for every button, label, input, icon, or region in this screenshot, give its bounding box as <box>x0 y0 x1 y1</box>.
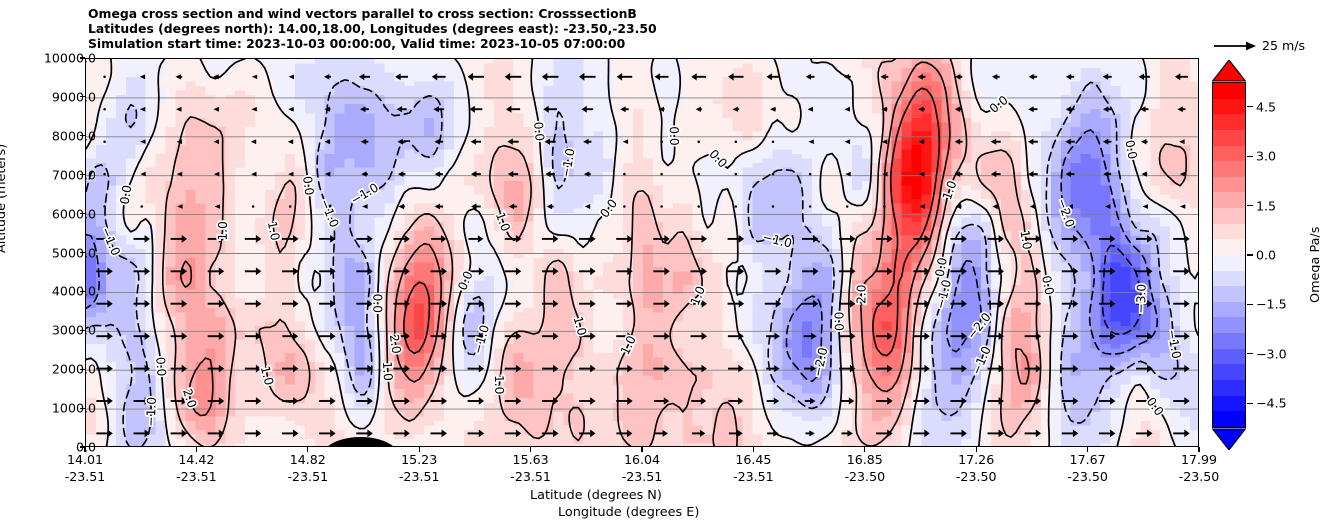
colorbar-band <box>1213 177 1245 193</box>
x-axis-label-longitude: Longitude (degrees E) <box>530 504 699 521</box>
x-tick-mark <box>530 447 531 452</box>
x-tick-label: 15.63-23.51 <box>510 452 551 485</box>
y-tick-mark <box>80 252 85 253</box>
colorbar-band <box>1213 146 1245 162</box>
x-tick-mark <box>1087 447 1088 452</box>
x-tick-longitude: -23.51 <box>622 469 663 486</box>
x-axis-label: Latitude (degrees N) Longitude (degrees … <box>530 487 699 521</box>
colorbar-band <box>1213 349 1245 365</box>
x-tick-label: 14.01-23.51 <box>65 452 106 485</box>
x-tick-label: 16.45-23.51 <box>733 452 774 485</box>
x-axis-label-latitude: Latitude (degrees N) <box>530 487 699 504</box>
colorbar: 4.53.01.50.0−1.5−3.0−4.5 Omega Pa/s <box>1212 60 1246 450</box>
x-tick-mark <box>641 447 642 452</box>
y-tick-mark <box>80 369 85 370</box>
x-tick-mark <box>84 447 85 452</box>
x-tick-latitude: 15.63 <box>510 452 551 469</box>
x-tick-label: 14.42-23.51 <box>176 452 217 485</box>
x-tick-latitude: 16.45 <box>733 452 774 469</box>
x-tick-longitude: -23.50 <box>1067 469 1108 486</box>
colorbar-tick-mark <box>1247 205 1253 206</box>
colorbar-band <box>1213 161 1245 177</box>
colorbar-tick-mark <box>1247 403 1253 404</box>
colorbar-tick-mark <box>1247 304 1253 305</box>
colorbar-band <box>1213 411 1245 427</box>
colorbar-title: Omega Pa/s <box>1308 227 1320 303</box>
colorbar-band <box>1213 364 1245 380</box>
colorbar-min-arrow <box>1212 428 1246 450</box>
x-tick-longitude: -23.51 <box>287 469 328 486</box>
omega-cross-section-plot: −3.0−2.0−2.0−2.0−1.0−1.0−1.0−1.0−1.0−1.0… <box>85 58 1199 447</box>
x-tick-mark <box>753 447 754 452</box>
wind-vector-key: 25 m/s <box>1212 36 1320 58</box>
colorbar-band <box>1213 255 1245 271</box>
colorbar-tick-label: −3.0 <box>1256 346 1287 361</box>
x-tick-mark <box>1198 447 1199 452</box>
colorbar-band <box>1213 130 1245 146</box>
x-tick-longitude: -23.50 <box>1179 469 1220 486</box>
y-tick-label: 3000.0 <box>52 323 96 338</box>
x-tick-longitude: -23.51 <box>510 469 551 486</box>
colorbar-band <box>1213 317 1245 333</box>
x-tick-mark <box>864 447 865 452</box>
y-tick-label: 1000.0 <box>52 401 96 416</box>
chart-title-block: Omega cross section and wind vectors par… <box>88 6 1088 52</box>
y-tick-label: 10000.0 <box>44 51 96 66</box>
x-tick-longitude: -23.51 <box>399 469 440 486</box>
y-tick-mark <box>80 96 85 97</box>
x-tick-longitude: -23.50 <box>956 469 997 486</box>
colorbar-band <box>1213 99 1245 115</box>
x-tick-label: 14.82-23.51 <box>287 452 328 485</box>
x-tick-longitude: -23.51 <box>176 469 217 486</box>
y-tick-label: 2000.0 <box>52 362 96 377</box>
y-tick-mark <box>80 291 85 292</box>
x-tick-label: 15.23-23.51 <box>399 452 440 485</box>
x-tick-latitude: 16.04 <box>622 452 663 469</box>
y-tick-mark <box>80 213 85 214</box>
colorbar-tick-mark <box>1247 254 1253 255</box>
colorbar-tick-label: −1.5 <box>1256 297 1287 312</box>
x-tick-latitude: 15.23 <box>399 452 440 469</box>
y-tick-label: 7000.0 <box>52 167 96 182</box>
colorbar-max-arrow <box>1212 60 1246 82</box>
arrow-right-icon <box>1212 36 1258 56</box>
y-tick-label: 5000.0 <box>52 245 96 260</box>
colorbar-tick-mark <box>1247 156 1253 157</box>
colorbar-band <box>1213 396 1245 412</box>
colorbar-tick-label: 4.5 <box>1256 99 1276 114</box>
x-tick-latitude: 17.26 <box>956 452 997 469</box>
colorbar-tick-label: 0.0 <box>1256 248 1276 263</box>
y-tick-label: 8000.0 <box>52 128 96 143</box>
x-tick-longitude: -23.51 <box>733 469 774 486</box>
x-tick-latitude: 14.01 <box>65 452 106 469</box>
colorbar-tick-label: 3.0 <box>1256 149 1276 164</box>
colorbar-band <box>1213 271 1245 287</box>
colorbar-tick-mark <box>1247 353 1253 354</box>
colorbar-band <box>1213 302 1245 318</box>
colorbar-band <box>1213 380 1245 396</box>
x-tick-label: 17.67-23.50 <box>1067 452 1108 485</box>
x-tick-label: 16.04-23.51 <box>622 452 663 485</box>
colorbar-band <box>1213 83 1245 99</box>
title-line-2: Latitudes (degrees north): 14.00,18.00, … <box>88 21 1088 36</box>
colorbar-band <box>1213 286 1245 302</box>
y-axis-label: Altitude (meters) <box>0 144 9 253</box>
x-tick-mark <box>419 447 420 452</box>
colorbar-band <box>1213 114 1245 130</box>
colorbar-tick-mark <box>1247 106 1253 107</box>
x-tick-mark <box>196 447 197 452</box>
x-tick-latitude: 14.82 <box>287 452 328 469</box>
wind-vector-key-label: 25 m/s <box>1262 38 1305 53</box>
colorbar-tick-label: 1.5 <box>1256 198 1276 213</box>
y-tick-label: 9000.0 <box>52 89 96 104</box>
y-tick-mark <box>80 135 85 136</box>
title-line-1: Omega cross section and wind vectors par… <box>88 6 1088 21</box>
x-tick-mark <box>976 447 977 452</box>
colorbar-band <box>1213 208 1245 224</box>
colorbar-band <box>1213 333 1245 349</box>
x-tick-mark <box>307 447 308 452</box>
x-tick-latitude: 17.67 <box>1067 452 1108 469</box>
colorbar-band <box>1213 224 1245 240</box>
colorbar-tick-label: −4.5 <box>1256 396 1287 411</box>
colorbar-band <box>1213 239 1245 255</box>
y-tick-label: 6000.0 <box>52 206 96 221</box>
x-tick-longitude: -23.51 <box>65 469 106 486</box>
y-tick-mark <box>80 174 85 175</box>
y-tick-mark <box>80 408 85 409</box>
terrain-mask <box>86 59 1198 446</box>
x-tick-label: 17.26-23.50 <box>956 452 997 485</box>
y-tick-mark <box>80 330 85 331</box>
x-tick-latitude: 17.99 <box>1179 452 1220 469</box>
x-tick-label: 16.85-23.50 <box>844 452 885 485</box>
colorbar-bands <box>1212 82 1246 428</box>
colorbar-band <box>1213 192 1245 208</box>
x-tick-latitude: 16.85 <box>844 452 885 469</box>
x-tick-label: 17.99-23.50 <box>1179 452 1220 485</box>
x-tick-latitude: 14.42 <box>176 452 217 469</box>
y-tick-label: 4000.0 <box>52 284 96 299</box>
x-tick-longitude: -23.50 <box>844 469 885 486</box>
y-tick-mark <box>80 57 85 58</box>
title-line-3: Simulation start time: 2023-10-03 00:00:… <box>88 36 1088 51</box>
